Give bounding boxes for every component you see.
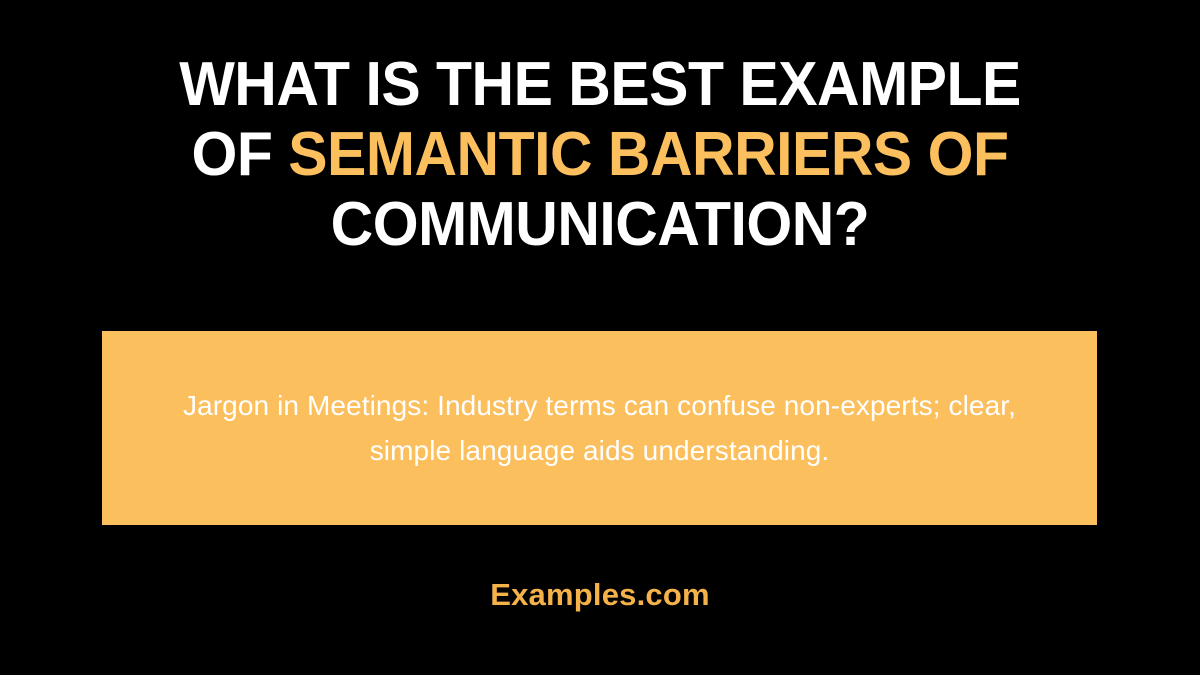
title-line-2: OF SEMANTIC BARRIERS OF [97,120,1104,190]
brand-wordmark: Examples.com [490,577,710,612]
footer: Examples.com [0,575,1200,615]
title-line-1: WHAT IS THE BEST EXAMPLE [97,50,1104,120]
answer-text: Jargon in Meetings: Industry terms can c… [162,383,1037,473]
page-title: WHAT IS THE BEST EXAMPLE OF SEMANTIC BAR… [0,50,1200,260]
title-line-2-white: OF [192,120,273,189]
title-line-3: COMMUNICATION? [97,190,1104,260]
answer-callout-box: Jargon in Meetings: Industry terms can c… [102,331,1097,525]
title-line-2-accent: SEMANTIC BARRIERS OF [288,120,1008,189]
slide-canvas: WHAT IS THE BEST EXAMPLE OF SEMANTIC BAR… [0,0,1200,675]
